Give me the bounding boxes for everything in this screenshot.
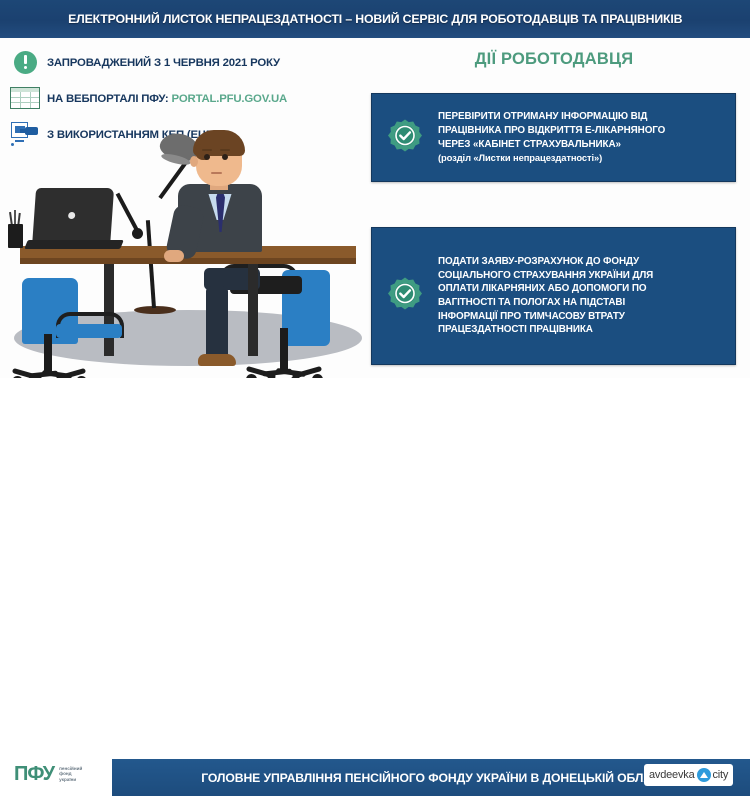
- office-chair-left-seat: [56, 324, 122, 338]
- desk-leg-right: [248, 264, 258, 356]
- person-eye-left: [204, 154, 210, 160]
- exclamation-circle-icon: [8, 49, 42, 77]
- infographic-poster: ЕЛЕКТРОННИЙ ЛИСТОК НЕПРАЦЕЗДАТНОСТІ – НО…: [0, 0, 750, 421]
- action-card-2: ПОДАТИ ЗАЯВУ-РОЗРАХУНОК ДО ФОНДУ СОЦІАЛЬ…: [371, 227, 736, 365]
- card-line: СОЦІАЛЬНОГО СТРАХУВАННЯ УКРАЇНИ ДЛЯ: [438, 269, 725, 283]
- avdeevka-city-watermark: avdeevka city: [644, 764, 733, 786]
- action-card-1-text: ПЕРЕВІРИТИ ОТРИМАНУ ІНФОРМАЦІЮ ВІД ПРАЦІ…: [438, 110, 735, 164]
- bullet-label: НА ВЕБПОРТАЛІ ПФУ: PORTAL.PFU.GOV.UA: [47, 93, 287, 105]
- card-line: ПОДАТИ ЗАЯВУ-РОЗРАХУНОК ДО ФОНДУ: [438, 255, 725, 269]
- action-card-2-text: ПОДАТИ ЗАЯВУ-РОЗРАХУНОК ДО ФОНДУ СОЦІАЛЬ…: [438, 255, 735, 337]
- gear-check-badge-icon: [372, 118, 438, 158]
- spreadsheet-monitor-icon: [8, 85, 42, 113]
- laptop-screen: [32, 188, 114, 248]
- page-title: ЕЛЕКТРОННИЙ ЛИСТОК НЕПРАЦЕЗДАТНОСТІ – НО…: [68, 12, 682, 26]
- card-line: ІНФОРМАЦІЇ ПРО ТИМЧАСОВУ ВТРАТУ: [438, 310, 725, 324]
- card-line: ЧЕРЕЗ «КАБІНЕТ СТРАХУВАЛЬНИКА»: [438, 138, 725, 152]
- card-line: ВАГІТНОСТІ ТА ПОЛОГАХ НА ПІДСТАВІ: [438, 296, 725, 310]
- bullet-label: ЗАПРОВАДЖЕНИЙ З 1 ЧЕРВНЯ 2021 РОКУ: [47, 57, 280, 69]
- card-line: ПРАЦЕЗДАТНОСТІ ПРАЦІВНИКА: [438, 323, 725, 337]
- footer-text: ГОЛОВНЕ УПРАВЛІННЯ ПЕНСІЙНОГО ФОНДУ УКРА…: [191, 771, 671, 785]
- person-torso: [178, 184, 262, 252]
- laptop-base: [24, 240, 124, 249]
- desk-lamp-pole: [146, 220, 156, 308]
- portal-url-link[interactable]: PORTAL.PFU.GOV.UA: [172, 93, 288, 105]
- actions-heading: ДІЇ РОБОТОДАВЦЯ: [371, 50, 737, 69]
- card-subline: (розділ «Листки непрацездатності»): [438, 151, 725, 165]
- list-item: ЗАПРОВАДЖЕНИЙ З 1 ЧЕРВНЯ 2021 РОКУ: [8, 48, 368, 78]
- person-hair: [193, 130, 245, 156]
- card-line: ПРАЦІВНИКА ПРО ВІДКРИТТЯ Е-ЛІКАРНЯНОГО: [438, 124, 725, 138]
- person-mouth: [211, 172, 222, 174]
- desk-lamp-joint: [132, 228, 143, 239]
- pfu-logo-mark: ПФУ: [14, 764, 54, 784]
- office-illustration: [8, 128, 368, 378]
- bullet-label-text: НА ВЕБПОРТАЛІ ПФУ:: [47, 93, 169, 105]
- gear-check-badge-icon: [372, 276, 438, 316]
- action-card-1: ПЕРЕВІРИТИ ОТРИМАНУ ІНФОРМАЦІЮ ВІД ПРАЦІ…: [371, 93, 736, 182]
- desk-edge: [20, 258, 356, 264]
- card-line: ПЕРЕВІРИТИ ОТРИМАНУ ІНФОРМАЦІЮ ВІД: [438, 110, 725, 124]
- person-eyebrow-right: [220, 149, 230, 151]
- pfu-logo-subtext-line: україни: [59, 777, 82, 783]
- desk-leg-left: [104, 264, 114, 356]
- person-legs: [194, 268, 254, 360]
- pen-holder: [8, 224, 23, 248]
- person-eye-right: [222, 154, 228, 160]
- watermark-text-right: city: [713, 769, 729, 781]
- list-item: НА ВЕБПОРТАЛІ ПФУ: PORTAL.PFU.GOV.UA: [8, 84, 368, 114]
- house-circle-icon: [697, 768, 711, 782]
- watermark-text-left: avdeevka: [649, 769, 695, 781]
- person-eyebrow-left: [202, 149, 212, 151]
- header-banner: ЕЛЕКТРОННИЙ ЛИСТОК НЕПРАЦЕЗДАТНОСТІ – НО…: [0, 0, 750, 38]
- pfu-logo-subtext: пенсійний фонд україни: [59, 766, 82, 783]
- footer: ПФУ пенсійний фонд україни ГОЛОВНЕ УПРАВ…: [0, 378, 750, 421]
- card-line: ОПЛАТИ ЛІКАРНЯНИХ АБО ДОПОМОГИ ПО: [438, 282, 725, 296]
- pfu-logo: ПФУ пенсійний фонд україни: [14, 764, 82, 784]
